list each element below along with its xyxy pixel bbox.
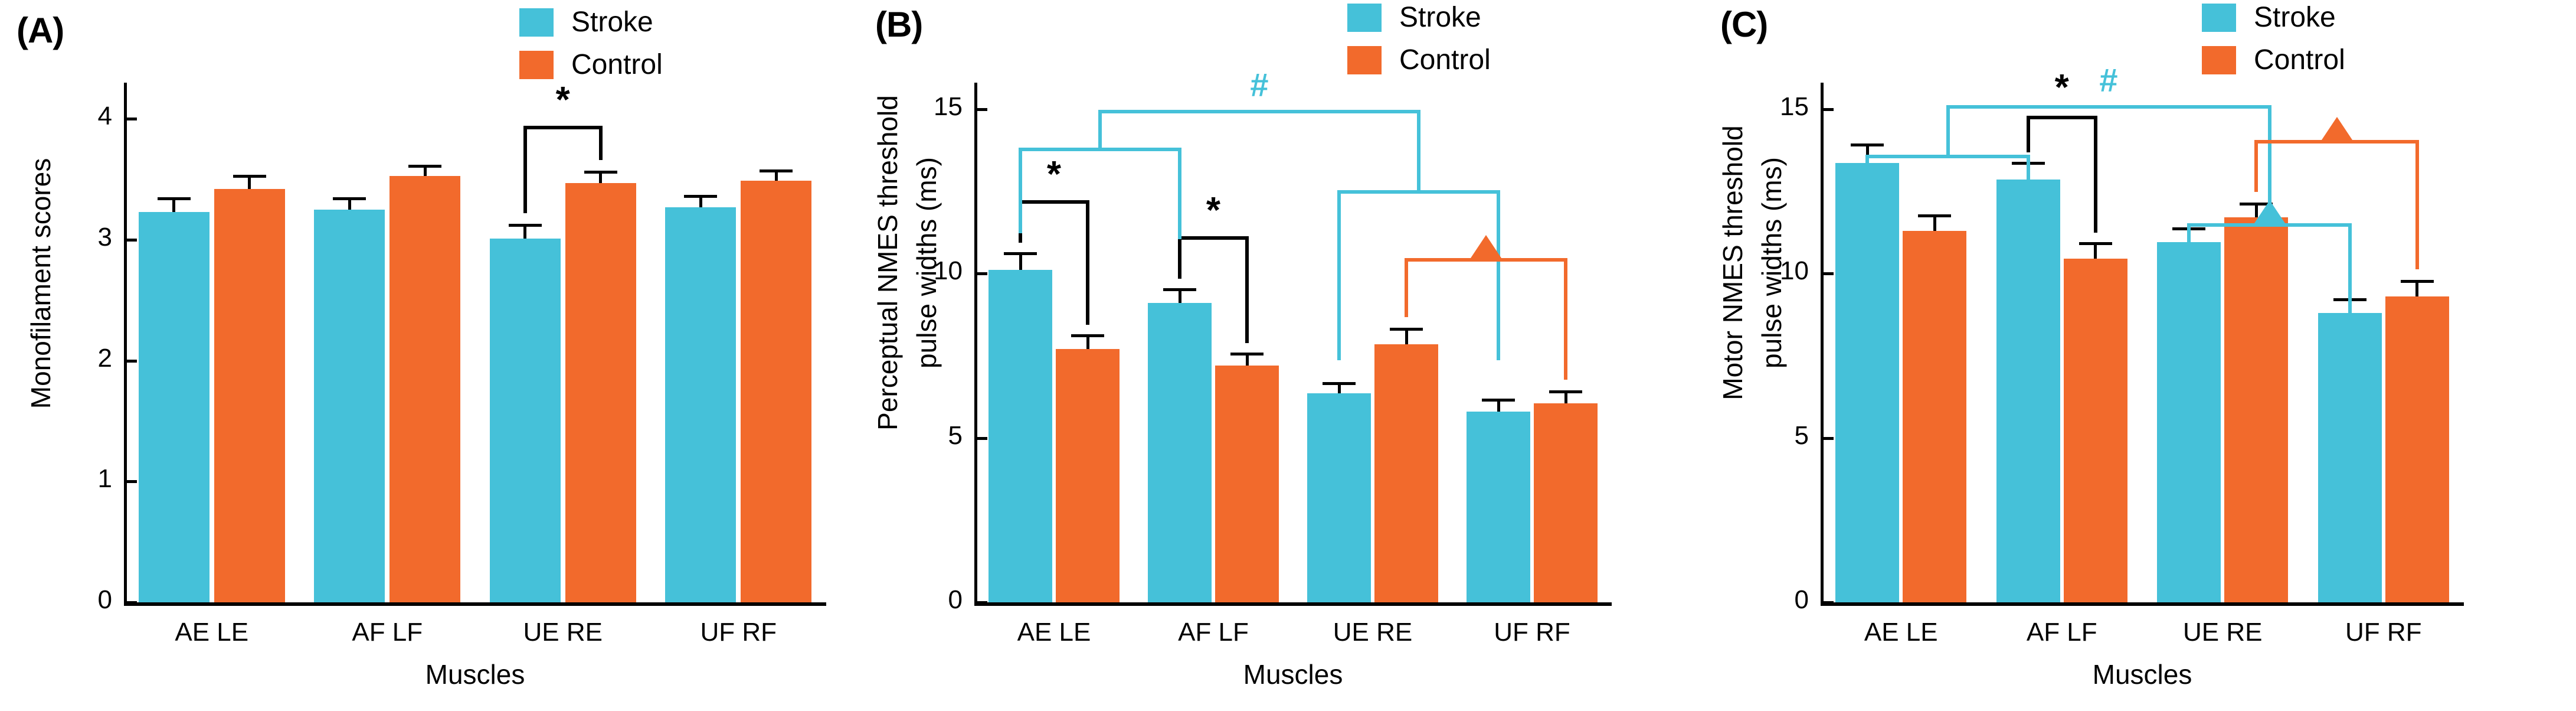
y-tick [124, 360, 137, 363]
legend-label-stroke: Stroke [571, 8, 653, 37]
error-bar-cap [684, 195, 717, 198]
bracket-left-leg [2254, 140, 2258, 192]
bracket-top [1100, 110, 1419, 113]
panel-a-x-axis-title: Muscles [124, 658, 826, 690]
y-tick-label: 10 [1756, 258, 1809, 284]
bar-uf-rf-control [741, 181, 811, 602]
error-bar-cap [1071, 334, 1104, 337]
bracket-top [1867, 155, 2028, 158]
legend-swatch-control [519, 51, 554, 79]
bar-uf-rf-control [1534, 403, 1598, 602]
bracket-right-leg [1564, 258, 1567, 380]
bracket-left-leg [1098, 110, 1102, 148]
panel-a: (A) Monofilament scores 01234AE LEAF LFU… [0, 0, 859, 711]
sig-b-star-0: * [1037, 156, 1071, 193]
panel-c-y-axis-title-line1: Motor NMES threshold [1717, 59, 1749, 467]
x-tick-label: UF RF [1414, 618, 1650, 647]
legend-label-control: Control [571, 51, 663, 79]
bracket-left-leg [1405, 258, 1408, 317]
bracket-left-leg [1865, 155, 1869, 241]
error-bar-cap [584, 171, 617, 174]
error-bar-cap [2079, 242, 2112, 245]
legend-swatch-control [2202, 46, 2236, 74]
bracket-left-leg [1337, 190, 1341, 360]
y-tick [974, 108, 987, 111]
bracket-left-leg [2187, 223, 2191, 331]
triangle-marker-c-orange [2320, 117, 2354, 142]
bar-ae-le-control [214, 189, 285, 602]
y-axis-line [974, 83, 977, 602]
legend-label-stroke: Stroke [2254, 4, 2336, 32]
triangle-marker-b-orange [1469, 235, 1503, 260]
bar-af-lf-control [1215, 366, 1279, 602]
sig-c-star: * [2045, 70, 2079, 106]
error-bar-cap [333, 197, 366, 200]
bar-ue-re-control [565, 183, 636, 602]
y-tick-label: 0 [59, 587, 112, 613]
bar-ue-re-stroke [490, 239, 561, 602]
bar-uf-rf-stroke [1467, 412, 1530, 602]
y-tick-label: 15 [1756, 94, 1809, 120]
panel-a-label: (A) [17, 13, 64, 48]
y-axis-line [1821, 83, 1824, 602]
bracket-right-leg [2348, 223, 2352, 337]
y-tick [974, 601, 987, 604]
bracket-right-leg [2094, 116, 2097, 233]
panel-b-label: (B) [875, 7, 922, 43]
bracket-right-leg [2415, 140, 2419, 269]
legend-label-control: Control [2254, 46, 2345, 74]
bar-uf-rf-stroke [665, 207, 736, 602]
y-tick-label: 4 [59, 103, 112, 129]
legend-swatch-stroke [519, 8, 554, 37]
bracket-top [1948, 105, 2270, 109]
error-bar-cap [233, 175, 266, 178]
error-bar-cap [1230, 353, 1264, 355]
error-bar-cap [1004, 252, 1037, 255]
error-bar-cap [1323, 382, 1356, 385]
legend-item-control: Control [519, 51, 663, 79]
legend-swatch-stroke [1347, 4, 1382, 32]
error-bar-cap [509, 224, 542, 227]
legend-item-control: Control [1347, 46, 1491, 74]
legend-swatch-stroke [2202, 4, 2236, 32]
bracket-top [525, 126, 601, 129]
y-tick-label: 10 [909, 258, 963, 284]
y-tick [1821, 601, 1834, 604]
bar-uf-rf-control [2385, 296, 2449, 602]
y-tick [124, 480, 137, 483]
panel-b-x-axis-title: Muscles [974, 658, 1612, 690]
panel-c-label: (C) [1720, 7, 1767, 43]
bar-ae-le-control [1903, 231, 1966, 602]
error-bar-cap [2401, 280, 2434, 283]
legend-item-stroke: Stroke [519, 8, 653, 37]
y-tick [124, 239, 137, 242]
y-tick [1821, 437, 1834, 440]
bracket-top [1020, 148, 1180, 151]
bar-af-lf-stroke [1148, 303, 1212, 602]
bracket-right-leg [2027, 155, 2030, 254]
figure-root: (A) Monofilament scores 01234AE LEAF LFU… [0, 0, 2576, 711]
sig-a-star: * [546, 82, 580, 119]
bar-ue-re-stroke [1307, 393, 1371, 602]
bracket-left-leg [1019, 148, 1022, 233]
bracket-left-leg [523, 126, 527, 213]
y-tick-label: 3 [59, 224, 112, 250]
bracket-right-leg [1086, 200, 1089, 325]
error-bar-cap [760, 169, 793, 172]
bar-ae-le-control [1056, 349, 1120, 602]
y-tick-label: 2 [59, 345, 112, 371]
bracket-right-leg [599, 126, 603, 160]
y-tick-label: 1 [59, 466, 112, 492]
bar-ue-re-control [2224, 217, 2288, 602]
legend-label-control: Control [1399, 46, 1491, 74]
sig-c-hash: # [2092, 64, 2125, 97]
bracket-right-leg [1178, 148, 1181, 239]
bracket-left-leg [1946, 105, 1950, 155]
y-tick [1821, 272, 1834, 275]
bracket-left-leg [2027, 116, 2030, 152]
bracket-top [1020, 200, 1088, 204]
y-tick [974, 272, 987, 275]
y-tick-label: 0 [1756, 587, 1809, 613]
panel-a-y-axis-title: Monofilament scores [25, 100, 57, 467]
legend-item-stroke: Stroke [2202, 4, 2336, 32]
x-axis-line [124, 602, 826, 606]
legend-item-control: Control [2202, 46, 2345, 74]
error-bar-cap [158, 197, 191, 200]
bracket-right-leg [1245, 236, 1249, 343]
panel-c: (C) Motor NMES threshold pulse widths (m… [1708, 0, 2576, 711]
panel-b-plot-area: 051015AE LEAF LFUE REUF RF**# [974, 83, 1612, 602]
bar-af-lf-stroke [314, 210, 385, 602]
panel-c-plot-area: 051015AE LEAF LFUE REUF RF#* [1821, 83, 2464, 602]
sig-b-star-1: * [1197, 193, 1230, 229]
triangle-marker-c-blue [2253, 200, 2286, 225]
error-bar-cap [1549, 390, 1582, 393]
bar-ae-le-stroke [139, 212, 210, 602]
panel-b: (B) Perceptual NMES threshold pulse widt… [859, 0, 1708, 711]
legend-item-stroke: Stroke [1347, 4, 1481, 32]
y-axis-line [124, 83, 127, 602]
bracket-top [1339, 190, 1498, 194]
y-tick-label: 15 [909, 94, 963, 120]
bar-af-lf-control [2064, 259, 2127, 602]
error-bar-cap [408, 165, 441, 168]
y-tick [124, 601, 137, 604]
y-tick-label: 5 [1756, 423, 1809, 449]
x-tick-label: UF RF [2266, 618, 2502, 647]
bracket-right-leg [1497, 190, 1500, 360]
bar-ae-le-stroke [988, 270, 1052, 602]
bracket-left-leg [1178, 236, 1181, 279]
error-bar-cap [1918, 214, 1951, 217]
error-bar-cap [1390, 328, 1423, 331]
y-tick-label: 5 [909, 423, 963, 449]
error-bar-cap [1163, 288, 1196, 291]
x-axis-line [974, 602, 1612, 606]
y-tick [974, 437, 987, 440]
y-tick-label: 0 [909, 587, 963, 613]
legend-swatch-control [1347, 46, 1382, 74]
y-tick [1821, 108, 1834, 111]
bar-af-lf-control [389, 176, 460, 602]
bar-ue-re-control [1374, 344, 1438, 602]
x-axis-line [1821, 602, 2464, 606]
bracket-right-leg [1417, 110, 1420, 190]
bracket-top [2028, 116, 2096, 119]
sig-b-hash: # [1243, 69, 1276, 102]
error-bar-cap [1482, 399, 1515, 402]
panel-a-plot-area: 01234AE LEAF LFUE REUF RF* [124, 83, 826, 602]
bracket-top [1180, 236, 1247, 240]
error-bar-cap [1851, 143, 1884, 146]
panel-c-x-axis-title: Muscles [1821, 658, 2464, 690]
x-tick-label: UF RF [620, 618, 856, 647]
legend-label-stroke: Stroke [1399, 4, 1481, 32]
panel-b-y-axis-title-line1: Perceptual NMES threshold [872, 59, 904, 467]
bar-uf-rf-stroke [2318, 313, 2382, 602]
y-tick [124, 118, 137, 120]
